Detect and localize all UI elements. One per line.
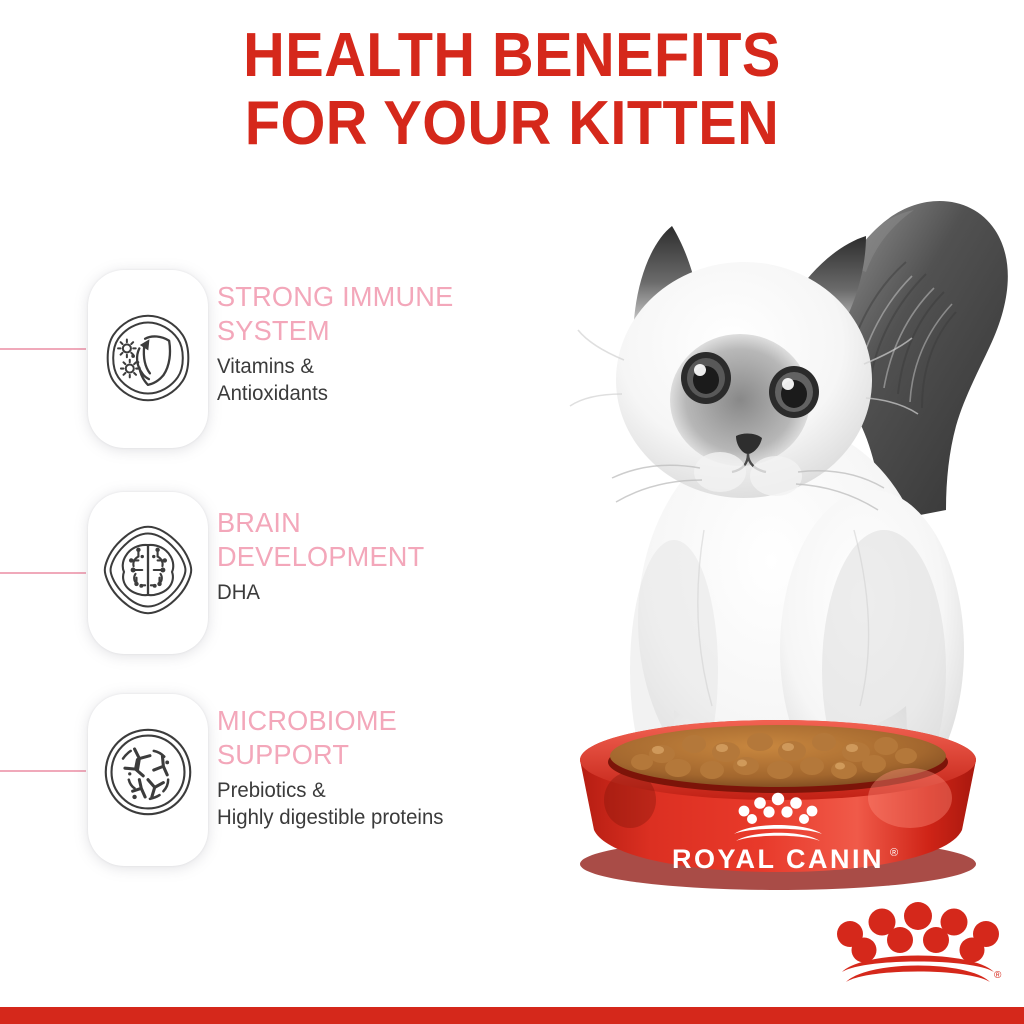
benefit-connector-line [0, 572, 86, 574]
bowl-brand-text: ROYAL CANIN [672, 844, 884, 874]
benefit-text-group: STRONG IMMUNE SYSTEM Vitamins & Antioxid… [217, 280, 547, 407]
benefit-connector-line [0, 348, 86, 350]
benefit-heading: STRONG IMMUNE SYSTEM [217, 280, 537, 348]
bowl-trademark: ® [890, 847, 898, 859]
kitten-health-benefits-page: HEALTH BENEFITS FOR YOUR KITTEN [0, 0, 1024, 1024]
microbiome-bacteria-icon [100, 724, 196, 820]
benefit-subtitle: Prebiotics & Highly digestible proteins [217, 777, 537, 831]
shield-germs-icon [100, 310, 196, 406]
benefits-list: STRONG IMMUNE SYSTEM Vitamins & Antioxid… [0, 0, 560, 1024]
royal-canin-crown-logo: ® [834, 894, 1002, 986]
royal-canin-food-bowl: ROYAL CANIN ® [580, 720, 976, 890]
benefit-text-group: MICROBIOME SUPPORT Prebiotics & Highly d… [217, 704, 547, 831]
kitten-photo: ROYAL CANIN ® [554, 150, 1024, 890]
benefit-connector-line [0, 770, 86, 772]
benefit-text-group: BRAIN DEVELOPMENT DHA [217, 506, 547, 606]
logo-trademark: ® [994, 970, 1002, 981]
benefit-subtitle: DHA [217, 579, 537, 606]
benefit-heading: BRAIN DEVELOPMENT [217, 506, 537, 574]
benefit-subtitle: Vitamins & Antioxidants [217, 353, 537, 407]
brain-icon [100, 522, 196, 618]
benefit-heading: MICROBIOME SUPPORT [217, 704, 537, 772]
footer-red-bar [0, 1007, 1024, 1024]
